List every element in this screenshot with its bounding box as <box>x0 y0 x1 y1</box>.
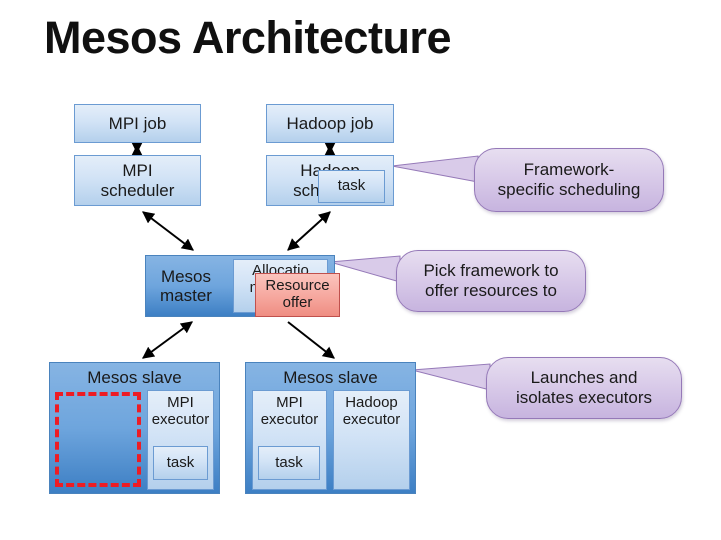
slide-canvas: Mesos Architecture MP <box>0 0 721 540</box>
callout-launches-isolates[interactable]: Launches and isolates executors <box>486 357 682 419</box>
mpi-job-label: MPI job <box>109 114 167 133</box>
hadoop-scheduler-task-box[interactable]: task <box>318 170 385 203</box>
mpi-executor-left-task-box[interactable]: task <box>153 446 208 480</box>
hadoop-executor-right-label: Hadoop executor <box>343 395 401 429</box>
mpi-executor-right-task-label: task <box>275 455 303 472</box>
connector-master-slave-left <box>143 322 192 358</box>
resource-offer-label: Resource offer <box>265 278 329 312</box>
callout-launch-text: Launches and isolates executors <box>516 368 652 409</box>
empty-executor-slot <box>55 392 141 487</box>
callout-pick-text: Pick framework to offer resources to <box>423 261 558 302</box>
callout-framework-specific-scheduling[interactable]: Framework- specific scheduling <box>474 148 664 212</box>
mpi-executor-right-task-box[interactable]: task <box>258 446 320 480</box>
mesos-slave-left-label: Mesos slave <box>50 368 219 387</box>
connector-master-slave-right <box>288 322 334 358</box>
mpi-executor-right-label: MPI executor <box>261 395 319 429</box>
resource-offer-box[interactable]: Resource offer <box>255 273 340 317</box>
mesos-master-label: Mesos master <box>160 267 212 305</box>
hadoop-executor-right-box[interactable]: Hadoop executor <box>333 390 410 490</box>
mpi-executor-left-label: MPI executor <box>152 395 210 429</box>
connector-hadoop-scheduler-master <box>288 212 330 250</box>
mpi-executor-left-task-label: task <box>167 455 195 472</box>
callout-tail-launch <box>412 362 494 404</box>
callout-tail-framework <box>392 152 484 194</box>
hadoop-job-box[interactable]: Hadoop job <box>266 104 394 143</box>
mpi-scheduler-label: MPI scheduler <box>101 161 175 199</box>
mpi-job-box[interactable]: MPI job <box>74 104 201 143</box>
mpi-scheduler-box[interactable]: MPI scheduler <box>74 155 201 206</box>
hadoop-job-label: Hadoop job <box>287 114 374 133</box>
mesos-slave-right-label: Mesos slave <box>246 368 415 387</box>
callout-pick-framework[interactable]: Pick framework to offer resources to <box>396 250 586 312</box>
hadoop-scheduler-task-label: task <box>338 178 366 195</box>
connector-mpi-scheduler-master <box>143 212 193 250</box>
callout-tail-pick <box>330 254 404 294</box>
callout-framework-text: Framework- specific scheduling <box>498 160 641 201</box>
